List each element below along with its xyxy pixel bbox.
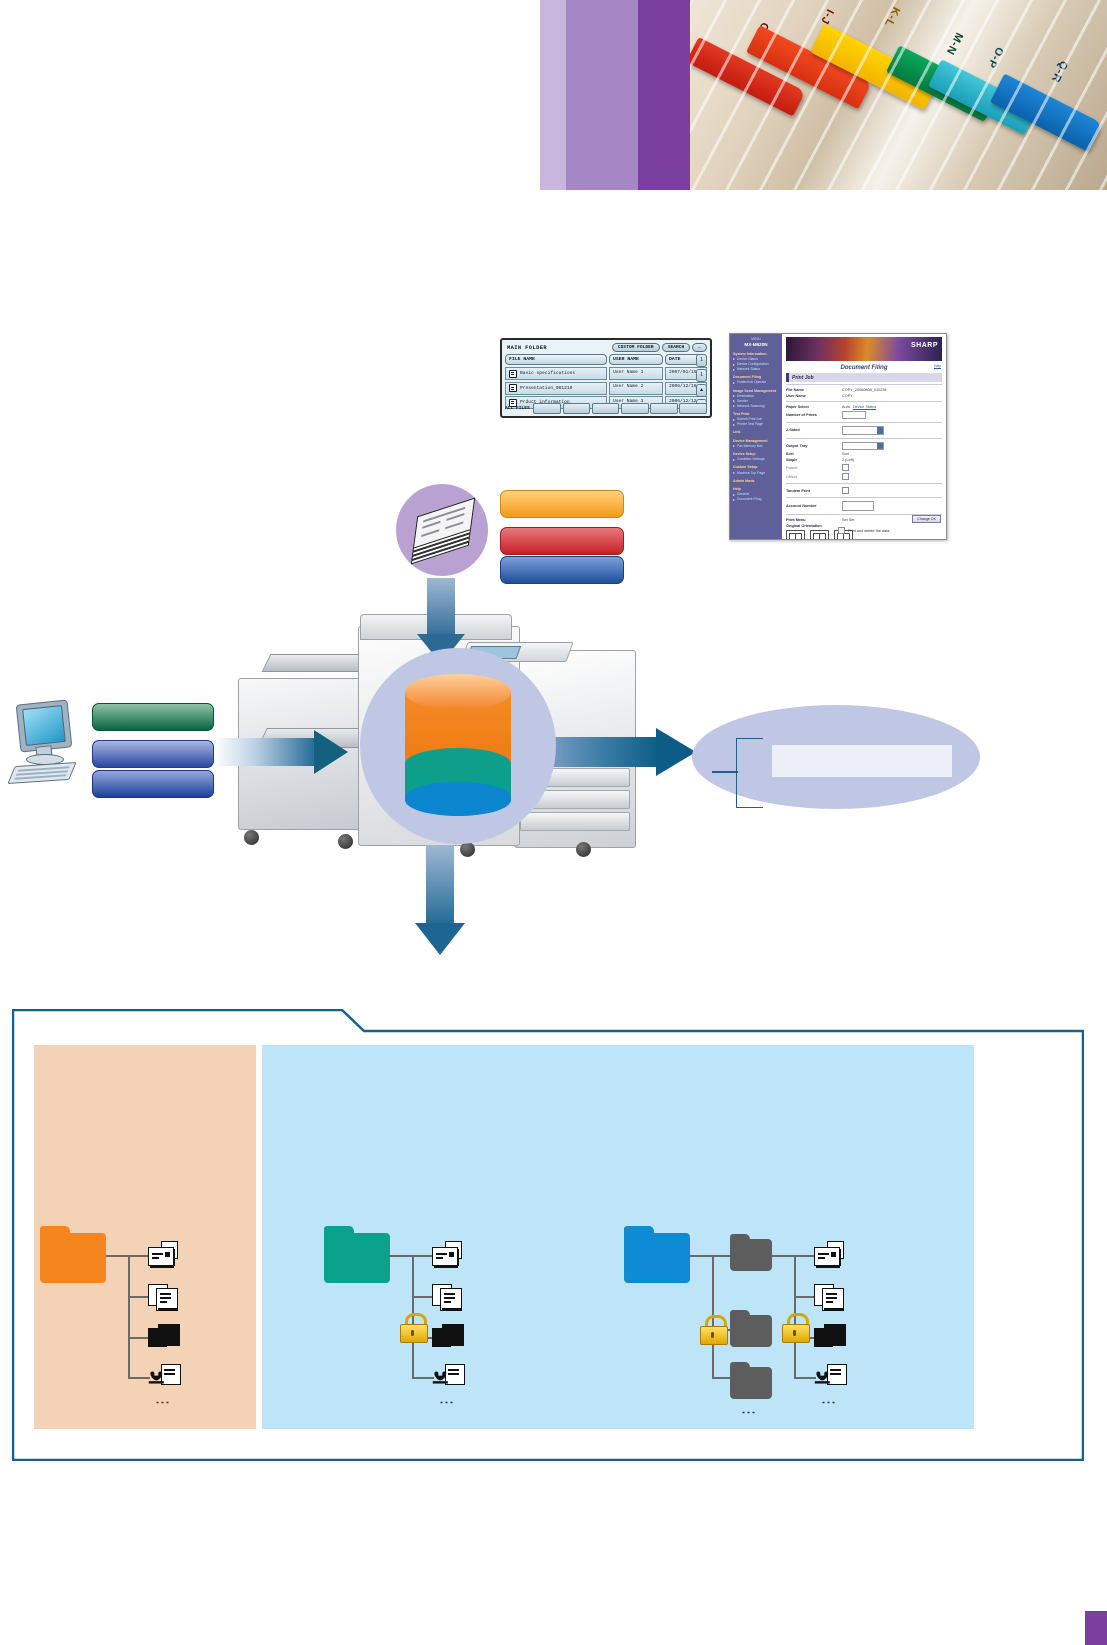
input-flow-arrow — [214, 730, 348, 774]
page-footer-mark — [1085, 1611, 1107, 1645]
arrow-shaft — [214, 738, 318, 766]
lcd-footer-button[interactable] — [563, 403, 591, 414]
arrow-head — [656, 728, 696, 776]
field-value: Sort — [842, 452, 942, 456]
field-offset: Offset — [786, 472, 942, 481]
divider — [786, 422, 942, 423]
copy-document-icon[interactable] — [432, 1283, 464, 1309]
tree-connector — [712, 1255, 730, 1257]
paper-drawer-4 — [520, 812, 630, 831]
divider — [786, 483, 942, 484]
web-menu-link-machine-top-page[interactable]: Machine Top Page — [733, 471, 779, 476]
print-job-icon — [509, 384, 517, 392]
input-bar-green — [92, 703, 214, 731]
tree-connector — [794, 1377, 816, 1379]
document-lock-icon — [782, 1313, 808, 1341]
top-banner: G-H I-J K-L M-N O-P Q-R — [520, 0, 1107, 190]
job-bar-orange — [500, 490, 624, 518]
phone-handset-icon — [432, 1370, 451, 1386]
field-value — [842, 442, 942, 451]
lcd-scroll-up-button[interactable]: ▲ — [696, 384, 707, 397]
field-punch: Punch — [786, 463, 942, 472]
web-menu-link-folder-job-operate[interactable]: Folder/Job Operate — [733, 380, 779, 385]
more-items-indicator: ⋮ — [826, 1395, 831, 1410]
field-value — [842, 501, 942, 511]
tree-connector — [690, 1255, 712, 1257]
tree-connector — [128, 1296, 150, 1298]
orientation-option-portrait-icon[interactable] — [786, 530, 805, 540]
fax-document-icon[interactable] — [814, 1241, 846, 1267]
arrow-shaft — [427, 578, 455, 638]
print-and-delete-row: Print and delete the data. — [838, 527, 890, 534]
field-label: Output Tray — [786, 444, 842, 448]
arrow-shaft — [548, 737, 660, 767]
field-value — [842, 464, 942, 471]
field-value — [842, 473, 942, 480]
divider — [786, 497, 942, 498]
phone-handset-icon — [814, 1370, 833, 1386]
lcd-title: MAIN FOLDER — [505, 344, 610, 352]
scan-document-icon[interactable] — [432, 1324, 464, 1350]
lcd-footer-button[interactable] — [621, 403, 649, 414]
tree-connector — [412, 1377, 434, 1379]
field-value — [842, 426, 942, 435]
cylinder-graphic — [405, 674, 511, 818]
subfolder-2[interactable] — [730, 1315, 772, 1347]
lcd-item-user-name: User Name 1 — [609, 367, 663, 380]
lcd-col-date-label: DATE — [669, 357, 681, 362]
web-menu-group: Admin Mode — [733, 479, 779, 484]
fax-phone-icon[interactable] — [432, 1364, 464, 1390]
lcd-footer-button[interactable] — [533, 403, 561, 414]
field-label: User Name — [786, 394, 842, 398]
fax-phone-icon[interactable] — [814, 1364, 846, 1390]
caster-wheel — [244, 830, 259, 845]
input-bar-blue-1 — [92, 740, 214, 768]
banner-band-mid — [566, 0, 638, 190]
photo-paper-lines — [690, 0, 1107, 190]
field-label: Punch — [786, 466, 842, 470]
tree-connector — [772, 1255, 794, 1257]
web-model-name: MX-M620N — [744, 342, 767, 347]
subfolder-lock-icon — [700, 1315, 726, 1343]
web-model-title: MENU MX-M620N — [733, 337, 779, 349]
lcd-item-name-cell: Presentation_061219 — [505, 382, 607, 395]
print-and-delete-checkbox[interactable] — [838, 527, 845, 534]
field-label: 2-Sided — [786, 428, 842, 432]
web-help-link[interactable]: Help — [934, 364, 941, 368]
lcd-column-headers: FILE NAME USER NAME DATE ▲ — [505, 354, 707, 365]
fax-document-icon[interactable] — [432, 1241, 464, 1267]
web-menu-link-printer-test-page[interactable]: Printer Test Page — [733, 422, 779, 427]
field-value: Auto Device Status — [842, 405, 942, 409]
main-folder[interactable] — [40, 1233, 106, 1283]
tree-connector — [106, 1255, 128, 1257]
lcd-back-button[interactable]: ← — [692, 343, 707, 352]
tree-connector — [128, 1255, 150, 1257]
lcd-search-button[interactable]: SEARCH — [662, 343, 691, 352]
web-menu-group: Link — [733, 430, 779, 435]
callout-bracket — [736, 738, 763, 808]
keyboard-icon — [7, 762, 76, 784]
monitor-icon — [16, 699, 73, 752]
operation-panel-screenshot: MAIN FOLDER CUSTOM FOLDER SEARCH ← FILE … — [500, 338, 712, 418]
lcd-item-name-cell: Basic specifications — [505, 367, 607, 380]
lcd-custom-folder-button[interactable]: CUSTOM FOLDER — [612, 343, 660, 352]
web-sidebar: MENU MX-M620N System Information Device … — [730, 334, 782, 539]
caster-wheel — [576, 842, 591, 857]
lcd-footer-button[interactable] — [679, 403, 707, 414]
banner-band-light — [540, 0, 566, 190]
more-subfolders-indicator: ⋮ — [746, 1405, 751, 1420]
tree-connector — [412, 1255, 434, 1257]
change-ok-button[interactable]: Change OK — [912, 515, 941, 523]
lcd-item-user-name: User Name 2 — [609, 382, 663, 395]
tree-connector — [794, 1255, 816, 1257]
fax-phone-icon[interactable] — [148, 1364, 180, 1390]
storage-flow-arrow — [415, 845, 465, 957]
folder-structure-panel: ⋮ — [12, 1009, 1084, 1461]
callout-stem — [712, 771, 738, 773]
web-section-header: Print Job — [786, 373, 942, 382]
lcd-item-file-name: Basic specifications — [520, 371, 575, 376]
layer-teal-top — [405, 748, 511, 780]
more-items-indicator: ⋮ — [160, 1395, 165, 1410]
lcd-footer-toolbar: ALL FILES — [505, 403, 707, 414]
field-value: COPY — [842, 394, 942, 398]
account-number-input[interactable] — [842, 501, 874, 511]
two-sided-select[interactable] — [842, 426, 884, 435]
print-menu-label: Print Menu — [786, 518, 842, 522]
output-callout-box — [772, 745, 952, 777]
field-label: Original Orientation — [786, 524, 842, 528]
arrow-head — [415, 923, 465, 955]
lcd-col-user-name[interactable]: USER NAME — [609, 354, 663, 365]
field-tandem-print: Tandem Print — [786, 486, 942, 495]
device-status-link[interactable]: Device Status — [853, 405, 876, 409]
lcd-list-item[interactable]: Basic specifications User Name 1 2007/01… — [505, 367, 707, 380]
divider — [786, 438, 942, 439]
field-label: Number of Prints — [786, 413, 842, 417]
lcd-item-file-name: Presentation_061219 — [520, 386, 572, 391]
field-account-number: Account Number — [786, 500, 942, 512]
layer-orange-top — [405, 674, 511, 710]
tree-connector — [412, 1296, 434, 1298]
web-menu-link-help-document-filing[interactable]: Document Filing — [733, 497, 779, 502]
folder-lock-icon — [400, 1313, 426, 1341]
tree-connector — [128, 1337, 150, 1339]
field-number-of-prints: Number of Prints — [786, 410, 942, 420]
field-label: Paper Select — [786, 405, 842, 409]
caster-wheel — [338, 834, 353, 849]
subfolder-1[interactable] — [730, 1239, 772, 1271]
tree-connector — [128, 1255, 130, 1377]
fax-document-icon[interactable] — [148, 1241, 180, 1267]
tree-connector — [390, 1255, 412, 1257]
lcd-all-files-label[interactable]: ALL FILES — [505, 406, 530, 411]
web-page-title: Document Filing — [782, 365, 946, 371]
subfolder-3[interactable] — [730, 1367, 772, 1399]
web-menu-link-network-scanning[interactable]: Network Scanning — [733, 404, 779, 409]
lcd-footer-button[interactable] — [592, 403, 620, 414]
field-label: Offset — [786, 475, 842, 479]
orientation-option-landscape-icon[interactable] — [810, 530, 829, 540]
field-label: File Name — [786, 388, 842, 392]
web-hero-banner: SHARP — [786, 337, 942, 361]
offset-checkbox[interactable] — [842, 473, 849, 480]
field-value: COPY_20060808_010234 — [842, 388, 942, 392]
field-label: Account Number — [786, 504, 842, 508]
layer-blue-top — [405, 782, 511, 812]
monitor-screen — [22, 705, 66, 746]
finisher-output-tray-upper — [262, 654, 369, 672]
scan-document-icon[interactable] — [148, 1324, 180, 1350]
phone-handset-icon — [148, 1370, 167, 1386]
job-bar-blue — [500, 556, 624, 584]
copy-job-icon — [509, 370, 517, 378]
lcd-page-down-button[interactable]: 1 — [696, 369, 707, 382]
field-output-tray: Output Tray — [786, 441, 942, 452]
document-stack-icon — [396, 484, 488, 576]
hard-disk-cylinder — [360, 648, 556, 844]
tree-connector — [712, 1377, 730, 1379]
web-page-screenshot: MENU MX-M620N System Information Device … — [729, 333, 947, 540]
field-label: Staple — [786, 458, 842, 462]
tree-connector — [794, 1296, 816, 1298]
divider — [786, 401, 942, 402]
arrow-head — [314, 730, 348, 774]
field-two-sided: 2-Sided — [786, 425, 942, 436]
lcd-titlebar: MAIN FOLDER CUSTOM FOLDER SEARCH ← — [505, 343, 707, 352]
lcd-footer-button[interactable] — [650, 403, 678, 414]
scan-document-icon[interactable] — [814, 1324, 846, 1350]
field-label: Sort — [786, 452, 842, 456]
custom-folder-blue-tree: ⋮ — [624, 1219, 924, 1409]
tree-connector — [128, 1377, 150, 1379]
sharp-logo: SHARP — [911, 342, 938, 349]
copy-document-icon[interactable] — [814, 1283, 846, 1309]
custom-folder-green[interactable] — [324, 1233, 390, 1283]
punch-checkbox[interactable] — [842, 464, 849, 471]
web-main-content: SHARP Help Document Filing Print Job Fil… — [782, 334, 946, 539]
field-value: 2 (Left) — [842, 458, 942, 462]
divider — [786, 384, 942, 385]
field-user-name: User Name COPY — [786, 393, 942, 399]
field-value — [842, 487, 942, 494]
computer-icon — [12, 702, 74, 794]
paper-select-value: Auto — [842, 405, 850, 409]
custom-folder-green-tree: ⋮ — [324, 1219, 534, 1409]
web-menu-link-condition-settings[interactable]: Condition Settings — [733, 457, 779, 462]
print-and-delete-label: Print and delete the data. — [848, 529, 890, 533]
field-label: Tandem Print — [786, 489, 842, 493]
more-items-indicator: ⋮ — [444, 1395, 449, 1410]
job-bar-red — [500, 527, 624, 555]
output-flow-arrow — [548, 728, 698, 776]
lcd-list-item[interactable]: Presentation_061219 User Name 2 2006/12/… — [505, 382, 707, 395]
arrow-shaft — [426, 845, 454, 929]
lcd-col-file-name[interactable]: FILE NAME — [505, 354, 607, 365]
output-tray-select[interactable] — [842, 442, 884, 451]
web-menu-link-fax-memory-box[interactable]: Fax Memory Box — [733, 444, 779, 449]
number-of-prints-input[interactable] — [842, 411, 866, 419]
tandem-print-checkbox[interactable] — [842, 487, 849, 494]
main-folder-tree: ⋮ — [40, 1219, 250, 1409]
file-divider-tabs-photo: G-H I-J K-L M-N O-P Q-R — [690, 0, 1107, 190]
copy-document-icon[interactable] — [148, 1283, 180, 1309]
input-bar-blue-2 — [92, 770, 214, 798]
lcd-page-up-button[interactable]: 1 — [696, 354, 707, 367]
field-value — [842, 411, 942, 419]
web-menu-link-network-status[interactable]: Network Status — [733, 367, 779, 372]
document-stack-graphic — [411, 498, 475, 565]
custom-folder-blue[interactable] — [624, 1233, 690, 1283]
